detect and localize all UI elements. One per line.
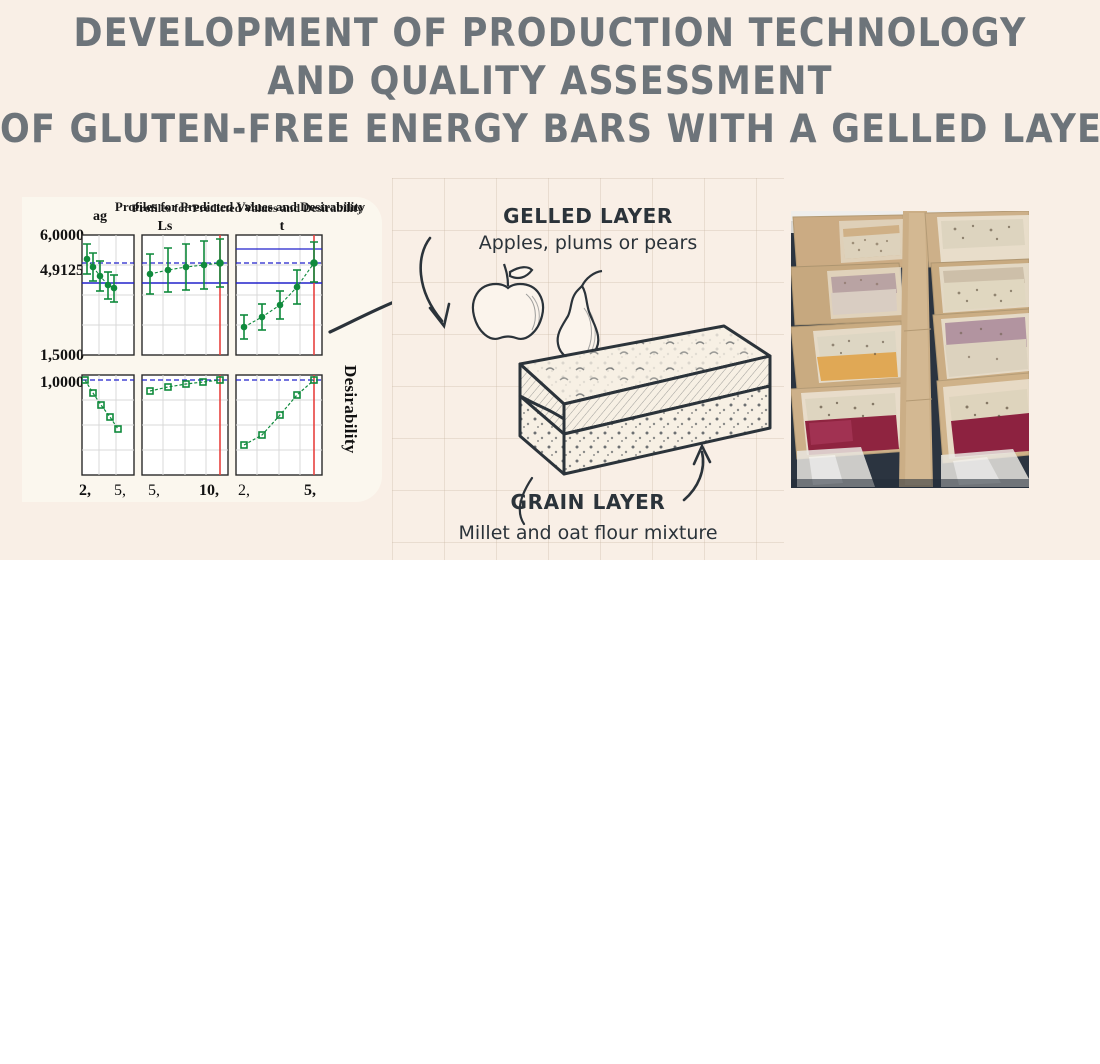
- profiler-chart: Profiles for Predicted Values and Desira…: [22, 197, 382, 502]
- panel-t-predicted: [236, 235, 322, 355]
- arrow-to-gelled-layer: [421, 238, 449, 326]
- panel-ag-desirability: [82, 375, 134, 475]
- panel-ag-predicted: [82, 235, 134, 355]
- x-tick-t-max: 5,: [304, 482, 316, 500]
- profiler-panels: [22, 197, 382, 502]
- pear-icon: [558, 271, 602, 360]
- x-tick-ls-max: 10,: [199, 482, 219, 500]
- x-tick-ag-max: 5,: [114, 482, 126, 500]
- x-tick-ls-min: 5,: [148, 482, 160, 500]
- title-line-3: OF GLUTEN-FREE ENERGY BARS WITH A GELLED…: [0, 106, 1100, 154]
- panel-t-desirability: [236, 375, 322, 475]
- bar-packet: [937, 373, 1029, 463]
- x-tick-t-min: 2,: [238, 482, 250, 500]
- profiler-chart-card: Profiles for Predicted Values and Desira…: [22, 197, 382, 502]
- bar-packet: [791, 263, 905, 325]
- product-photo: [791, 211, 1029, 488]
- grain-layer-subtitle: Millet and oat flour mixture: [392, 522, 784, 544]
- bar-packet: [933, 309, 1029, 383]
- title-line-1: DEVELOPMENT OF PRODUCTION TECHNOLOGY: [0, 10, 1100, 58]
- bar-packet: [791, 321, 907, 389]
- bar-packet: [793, 215, 907, 271]
- product-photo-image: [791, 211, 1029, 488]
- layer-diagram: GELLED LAYER Apples, plums or pears: [392, 178, 784, 560]
- panel-ls-predicted: [142, 235, 228, 355]
- bar-packet: [791, 383, 909, 459]
- poster-canvas: DEVELOPMENT OF PRODUCTION TECHNOLOGY AND…: [0, 0, 1100, 560]
- x-tick-ag-min: 2,: [79, 482, 91, 500]
- page-title: DEVELOPMENT OF PRODUCTION TECHNOLOGY AND…: [0, 10, 1100, 154]
- title-line-2: AND QUALITY ASSESSMENT: [0, 58, 1100, 106]
- panel-ls-desirability: [142, 375, 228, 475]
- y-axis-title-desirability: Desirability: [340, 365, 360, 454]
- bar-packet: [925, 211, 1029, 267]
- bar-packet: [931, 259, 1029, 317]
- grain-layer-heading: GRAIN LAYER: [392, 490, 784, 514]
